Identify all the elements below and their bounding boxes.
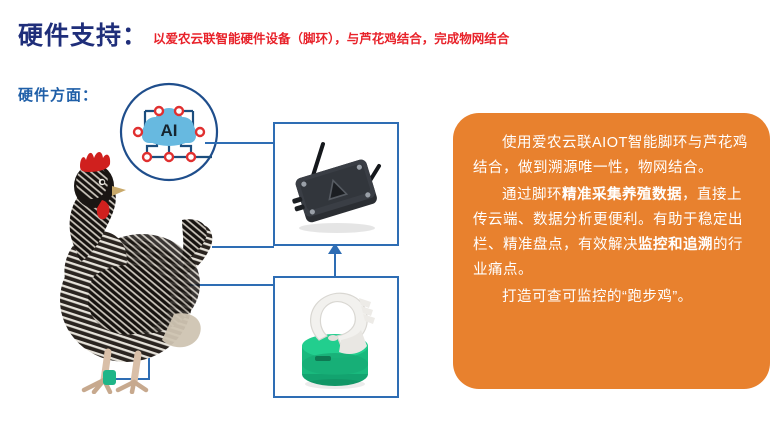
chicken-svg bbox=[22, 124, 222, 394]
page-title: 硬件支持 bbox=[18, 16, 122, 52]
panel-p2-bold-2: 监控和追溯 bbox=[638, 237, 713, 253]
gateway-device-box[interactable] bbox=[273, 122, 399, 246]
panel-p2-pre: 通过脚环 bbox=[502, 187, 562, 203]
slide-canvas: 硬件支持 ： 以爱农云联智能硬件设备（脚环），与芦花鸡结合，完成物网结合 硬件方… bbox=[0, 0, 775, 445]
arrow-up-stem bbox=[334, 252, 336, 276]
leg-ring-marker bbox=[103, 370, 116, 385]
leg-ring-device-photo bbox=[275, 278, 397, 396]
page-header: 硬件支持 ： 以爱农云联智能硬件设备（脚环），与芦花鸡结合，完成物网结合 bbox=[18, 16, 509, 52]
panel-p2-bold-1: 精准采集养殖数据 bbox=[562, 187, 682, 203]
leg-ring-device-box[interactable] bbox=[273, 276, 399, 398]
description-panel: 使用爱农云联AIOT智能脚环与芦花鸡结合，做到溯源唯一性，物网结合。 通过脚环精… bbox=[453, 113, 770, 389]
page-subtitle: 以爱农云联智能硬件设备（脚环），与芦花鸡结合，完成物网结合 bbox=[153, 28, 509, 47]
section-label: 硬件方面： bbox=[18, 84, 98, 105]
page-title-colon: ： bbox=[122, 16, 147, 52]
chicken-photo bbox=[22, 124, 222, 394]
panel-paragraph-3: 打造可查可监控的“跑步鸡”。 bbox=[473, 285, 752, 310]
panel-paragraph-1: 使用爱农云联AIOT智能脚环与芦花鸡结合，做到溯源唯一性，物网结合。 bbox=[473, 131, 752, 181]
gateway-device-photo bbox=[275, 124, 397, 244]
panel-paragraph-2: 通过脚环精准采集养殖数据，直接上传云端、数据分析更便利。有助于稳定出栏、精准盘点… bbox=[473, 183, 752, 283]
